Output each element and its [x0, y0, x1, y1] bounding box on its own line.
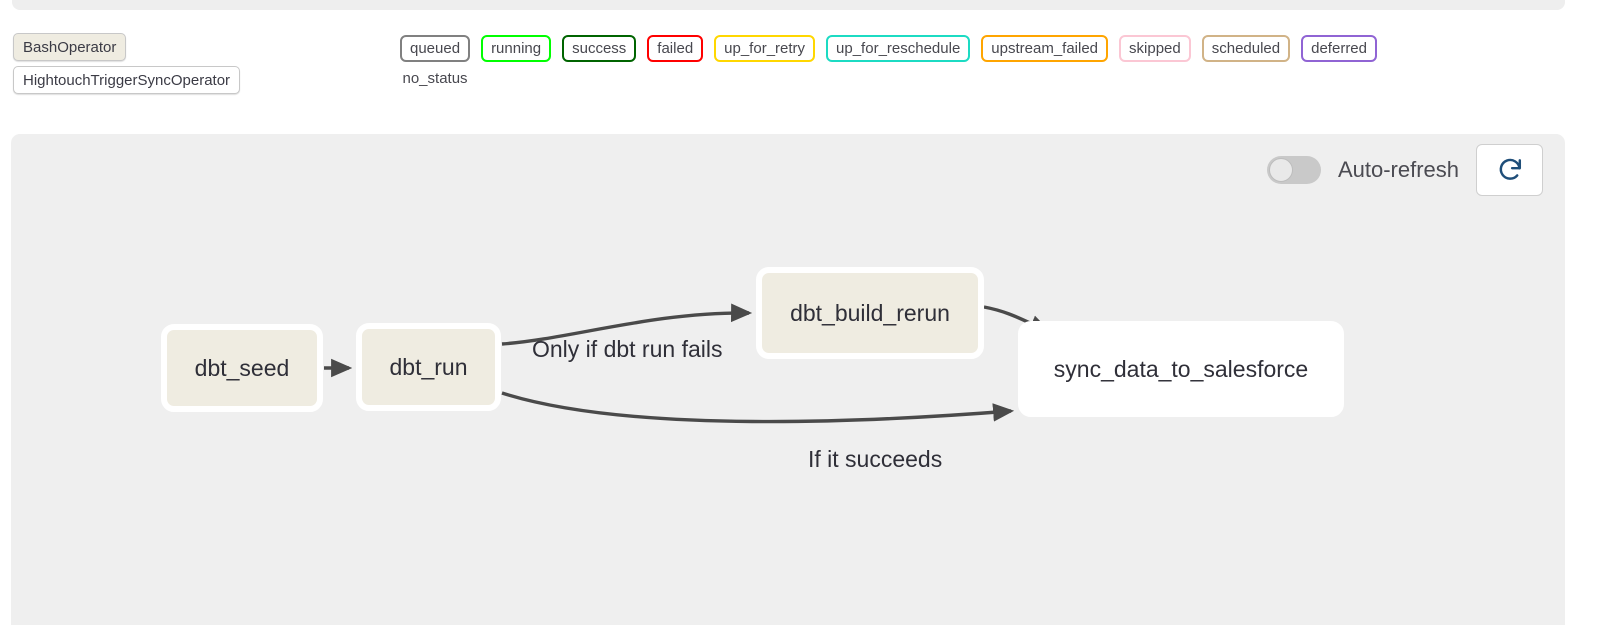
status-chip-up-for-reschedule[interactable]: up_for_reschedule [826, 35, 970, 62]
graph-node-label: sync_data_to_salesforce [1054, 356, 1308, 383]
status-chip-deferred[interactable]: deferred [1301, 35, 1377, 62]
status-chip-queued[interactable]: queued [400, 35, 470, 62]
status-chip-running[interactable]: running [481, 35, 551, 62]
airflow-graph-page: BashOperator HightouchTriggerSyncOperato… [0, 0, 1600, 625]
status-chip-skipped[interactable]: skipped [1119, 35, 1191, 62]
status-legend-item-skipped: skipped [1119, 35, 1191, 62]
legend-area: BashOperator HightouchTriggerSyncOperato… [0, 33, 1600, 113]
status-legend-item-failed: failed [647, 35, 703, 62]
graph-node-label: dbt_seed [195, 355, 290, 382]
status-legend: queued no_status running success failed … [400, 35, 1377, 87]
graph-panel: Auto-refresh [11, 134, 1565, 625]
edge-dbt-run-to-sync-data-to-salesforce [502, 393, 1011, 422]
edge-label-if-it-succeeds: If it succeeds [808, 446, 942, 473]
graph-node-dbt-run[interactable]: dbt_run [356, 323, 501, 411]
status-legend-item-upstream-failed: upstream_failed [981, 35, 1108, 62]
status-legend-item-deferred: deferred [1301, 35, 1377, 62]
graph-node-sync-data-to-salesforce[interactable]: sync_data_to_salesforce [1018, 321, 1344, 417]
operator-chip-bashoperator[interactable]: BashOperator [13, 33, 126, 61]
status-legend-item-success: success [562, 35, 636, 62]
operator-chip-hightouchtriggersyncoperator[interactable]: HightouchTriggerSyncOperator [13, 66, 240, 94]
status-legend-item-up-for-retry: up_for_retry [714, 35, 815, 62]
graph-node-dbt-seed[interactable]: dbt_seed [161, 324, 323, 412]
status-chip-upstream-failed[interactable]: upstream_failed [981, 35, 1108, 62]
panel-above-strip [12, 0, 1565, 10]
graph-node-label: dbt_run [389, 354, 467, 381]
status-chip-up-for-retry[interactable]: up_for_retry [714, 35, 815, 62]
no-status-label: no_status [403, 70, 468, 87]
status-legend-item-queued: queued no_status [400, 35, 470, 87]
graph-node-dbt-build-rerun[interactable]: dbt_build_rerun [756, 267, 984, 359]
status-chip-scheduled[interactable]: scheduled [1202, 35, 1290, 62]
operator-legend: BashOperator HightouchTriggerSyncOperato… [13, 33, 240, 94]
edge-label-only-if-dbt-run-fails: Only if dbt run fails [532, 336, 722, 363]
status-legend-item-running: running [481, 35, 551, 62]
status-chip-failed[interactable]: failed [647, 35, 703, 62]
status-legend-item-up-for-reschedule: up_for_reschedule [826, 35, 970, 62]
graph-node-label: dbt_build_rerun [790, 300, 950, 327]
status-chip-success[interactable]: success [562, 35, 636, 62]
status-legend-item-scheduled: scheduled [1202, 35, 1290, 62]
